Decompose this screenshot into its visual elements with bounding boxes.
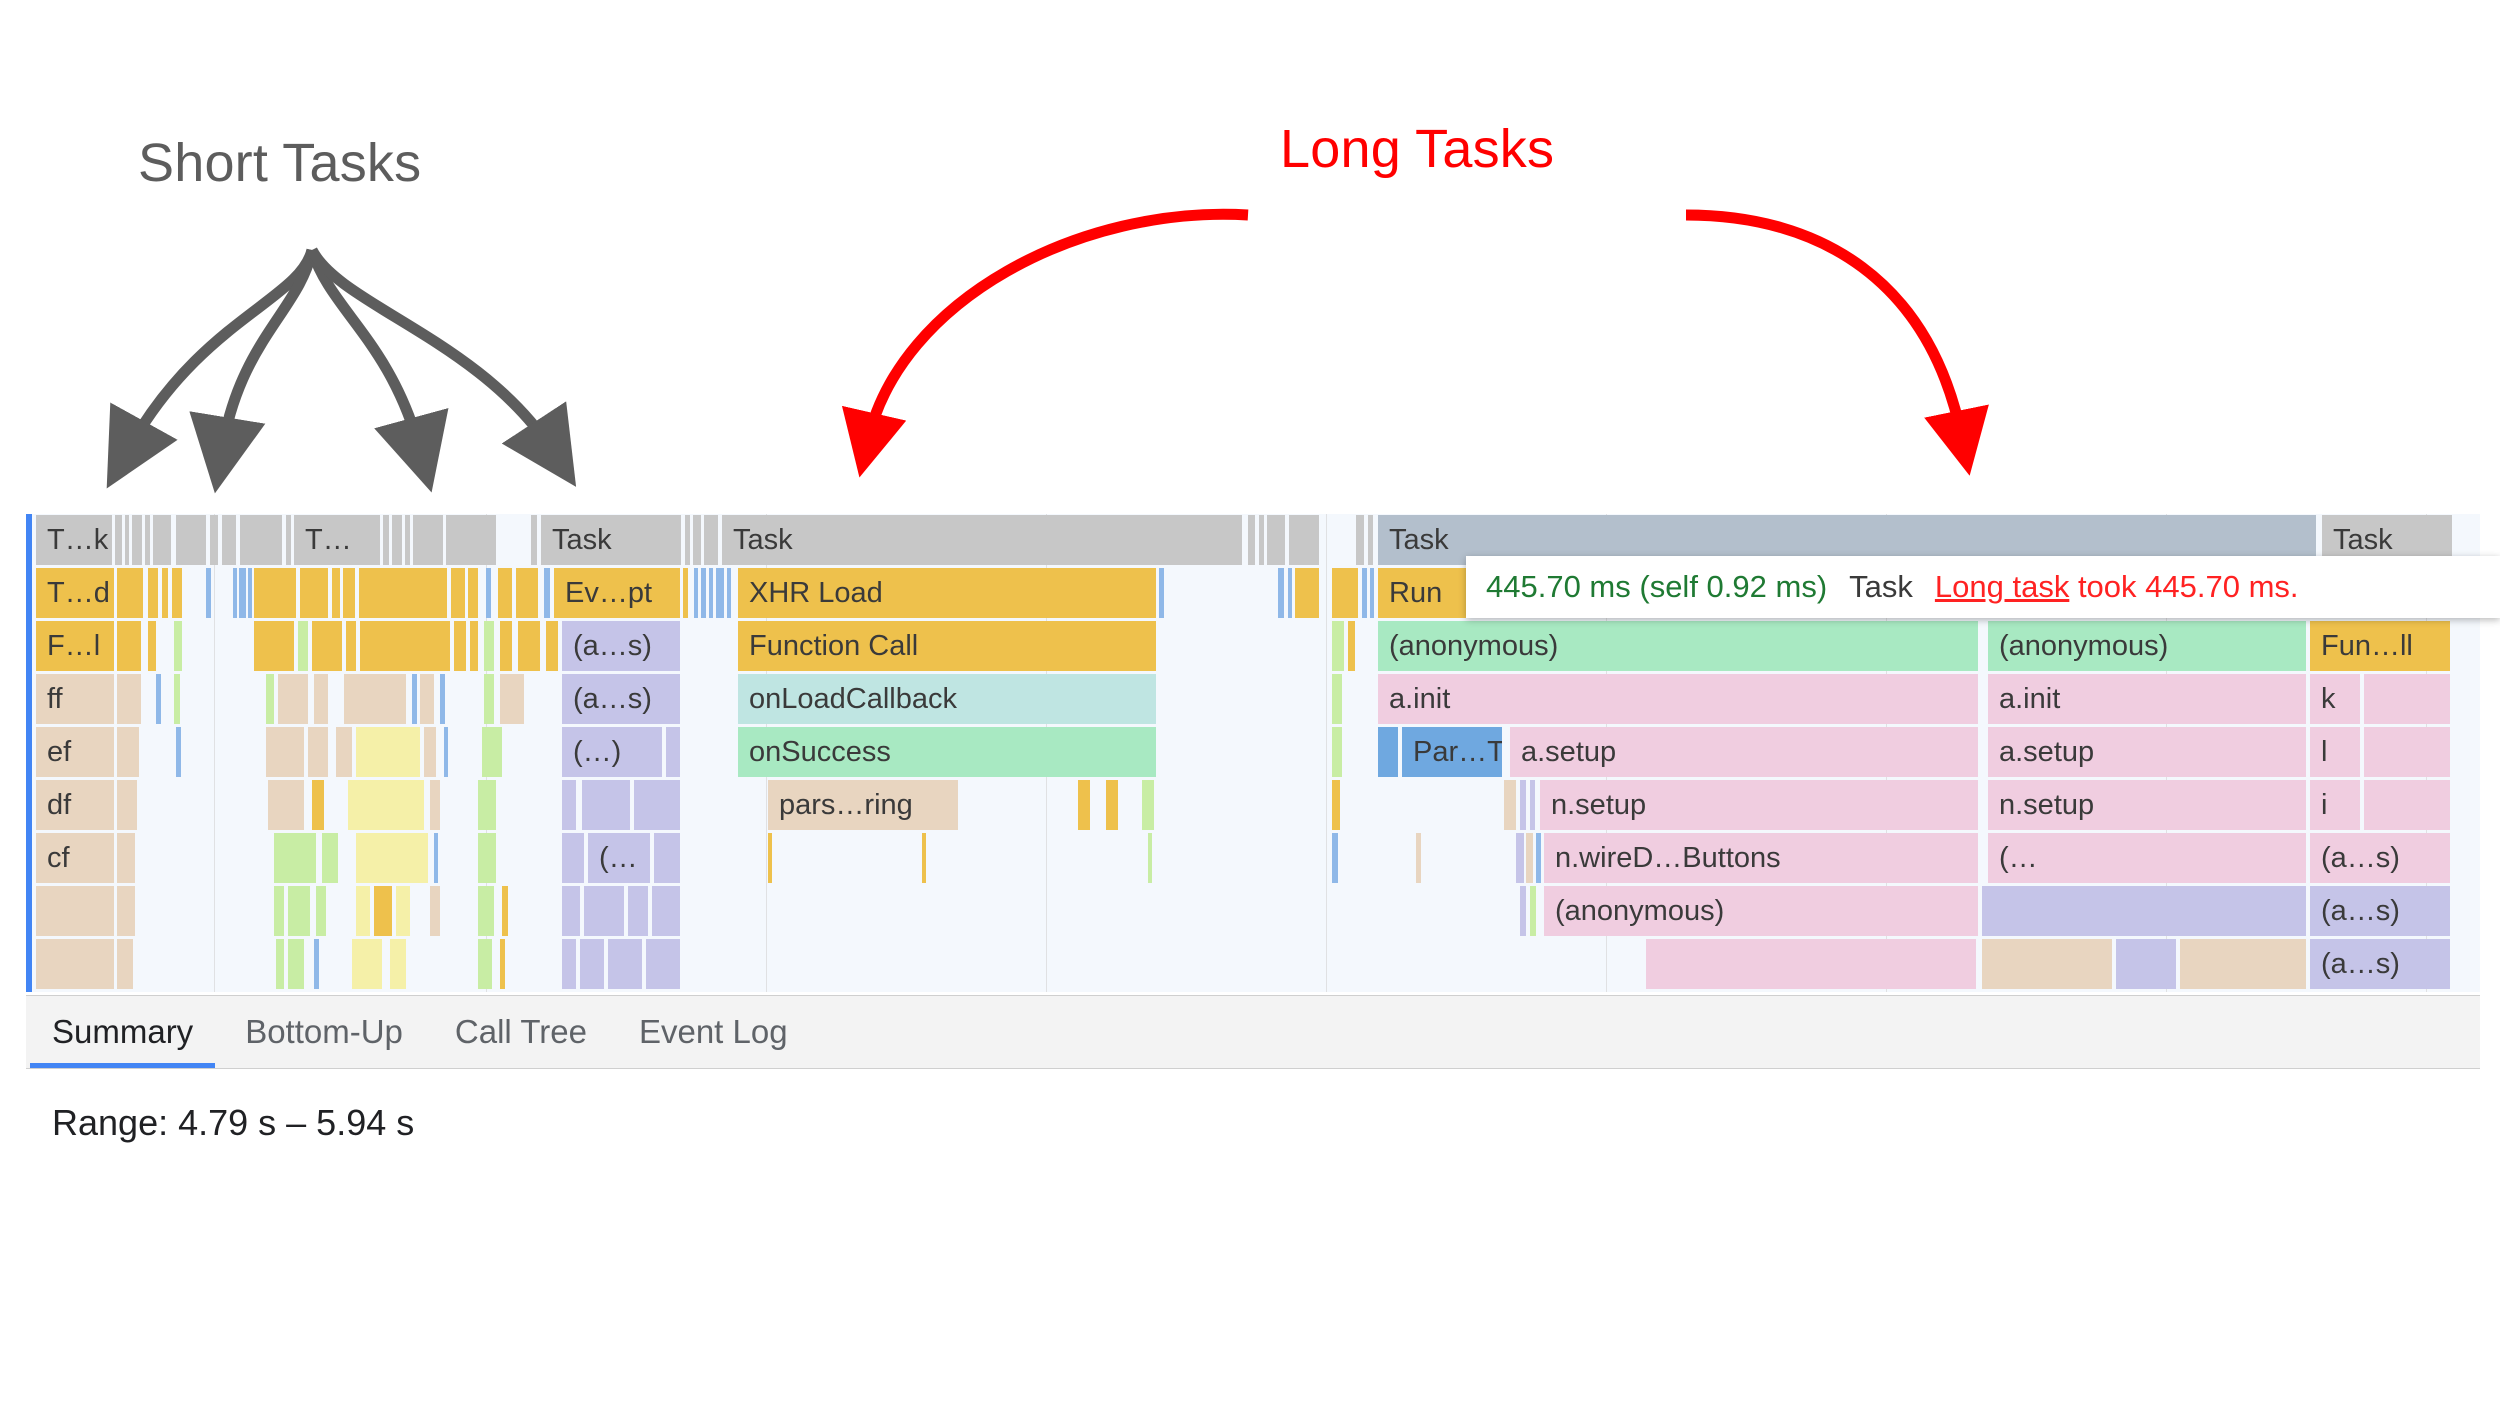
task-block[interactable] xyxy=(132,515,142,565)
flame-block[interactable] xyxy=(470,621,478,671)
flame-block[interactable] xyxy=(666,727,680,777)
flame-block[interactable] xyxy=(278,674,308,724)
flame-block[interactable]: (anonymous) xyxy=(1544,886,1978,936)
tooltip-duration: 445.70 ms (self 0.92 ms) xyxy=(1486,569,1827,605)
short-tasks-annotation-label: Short Tasks xyxy=(138,132,421,194)
task-block[interactable] xyxy=(222,515,236,565)
flame-block[interactable] xyxy=(322,833,338,883)
flame-block[interactable] xyxy=(694,568,698,618)
flame-block[interactable] xyxy=(156,674,161,724)
flame-block[interactable] xyxy=(1332,674,1342,724)
flame-block[interactable] xyxy=(162,568,168,618)
flame-row-6: cf (… n.wireD…Buttons (… (a…s) xyxy=(26,832,2480,884)
flame-block[interactable]: (… xyxy=(588,833,650,883)
flame-block[interactable]: (a…s) xyxy=(2310,833,2450,883)
flame-block[interactable] xyxy=(478,780,496,830)
flame-block[interactable] xyxy=(312,621,342,671)
flame-row-7: (anonymous) (a…s) xyxy=(26,885,2480,937)
tab-summary[interactable]: Summary xyxy=(26,996,219,1068)
flame-block[interactable] xyxy=(117,727,139,777)
flame-block[interactable] xyxy=(1332,568,1358,618)
flame-block[interactable] xyxy=(117,939,133,989)
flame-block[interactable] xyxy=(1416,833,1421,883)
task-block[interactable] xyxy=(531,515,537,565)
flame-block[interactable]: (a…s) xyxy=(2310,939,2450,989)
flame-block[interactable]: (anonymous) xyxy=(1378,621,1978,671)
flame-block[interactable] xyxy=(356,727,420,777)
flame-block[interactable]: (a…s) xyxy=(2310,886,2450,936)
flame-block[interactable] xyxy=(1332,780,1340,830)
flame-block[interactable] xyxy=(148,568,158,618)
flame-block[interactable] xyxy=(478,886,494,936)
flame-block[interactable] xyxy=(727,568,731,618)
flame-block[interactable] xyxy=(117,780,137,830)
flame-block[interactable] xyxy=(360,621,450,671)
flame-block[interactable] xyxy=(498,568,512,618)
flame-block[interactable] xyxy=(2364,674,2450,724)
flame-block[interactable] xyxy=(562,780,576,830)
tooltip-warning: Long task took 445.70 ms. xyxy=(1935,569,2299,605)
task-block[interactable] xyxy=(240,515,282,565)
flame-block[interactable] xyxy=(239,568,246,618)
flame-block[interactable] xyxy=(1348,621,1355,671)
tab-event-log[interactable]: Event Log xyxy=(613,996,814,1068)
flame-block[interactable] xyxy=(444,727,448,777)
flame-block[interactable] xyxy=(274,833,316,883)
tab-call-tree[interactable]: Call Tree xyxy=(429,996,613,1068)
task-block[interactable] xyxy=(210,515,218,565)
task-block[interactable] xyxy=(115,515,122,565)
flame-block[interactable] xyxy=(922,833,926,883)
flame-block[interactable] xyxy=(298,621,308,671)
flame-block[interactable]: F…l xyxy=(36,621,114,671)
task-block[interactable] xyxy=(405,515,410,565)
flame-block[interactable]: a.init xyxy=(1378,674,1978,724)
flame-block[interactable] xyxy=(172,568,182,618)
flame-block[interactable] xyxy=(652,886,680,936)
task-block[interactable] xyxy=(286,515,291,565)
flame-block[interactable] xyxy=(683,568,688,618)
flame-block[interactable] xyxy=(206,568,211,618)
task-block[interactable]: Task xyxy=(541,515,681,565)
flame-block[interactable] xyxy=(562,886,580,936)
flame-block[interactable] xyxy=(1520,886,1526,936)
flame-block[interactable] xyxy=(484,621,494,671)
task-block[interactable] xyxy=(383,515,389,565)
flame-block[interactable]: onSuccess xyxy=(738,727,1156,777)
flame-block[interactable] xyxy=(1520,780,1526,830)
flame-block[interactable] xyxy=(646,939,680,989)
flame-block[interactable] xyxy=(634,780,680,830)
task-block[interactable] xyxy=(413,515,443,565)
flame-block[interactable] xyxy=(518,621,540,671)
details-tab-bar[interactable]: Summary Bottom-Up Call Tree Event Log xyxy=(26,995,2480,1069)
annotation-arrows xyxy=(0,0,2500,520)
flame-block[interactable] xyxy=(608,939,642,989)
flame-block[interactable] xyxy=(1332,833,1338,883)
task-block[interactable] xyxy=(1259,515,1264,565)
flame-block[interactable]: k xyxy=(2310,674,2360,724)
long-task-tooltip: 445.70 ms (self 0.92 ms) Task Long task … xyxy=(1466,556,2500,618)
flame-block[interactable]: (… xyxy=(1988,833,2306,883)
flame-block[interactable] xyxy=(288,939,304,989)
flame-block[interactable] xyxy=(1530,886,1536,936)
task-block[interactable] xyxy=(1289,515,1319,565)
flame-block[interactable]: ef xyxy=(36,727,114,777)
flame-block[interactable] xyxy=(500,939,505,989)
flame-block[interactable] xyxy=(396,886,410,936)
task-block[interactable] xyxy=(685,515,690,565)
flame-block[interactable] xyxy=(500,674,524,724)
flame-block[interactable] xyxy=(1526,833,1533,883)
flame-block[interactable]: n.wireD…Buttons xyxy=(1544,833,1978,883)
flame-block[interactable] xyxy=(344,674,406,724)
range-summary-text: Range: 4.79 s – 5.94 s xyxy=(52,1102,414,1144)
flame-block[interactable] xyxy=(484,674,494,724)
flame-row-3: ff (a…s) onLoadCallback a.init a.init k xyxy=(26,673,2480,725)
flame-block[interactable] xyxy=(420,674,434,724)
flame-block[interactable] xyxy=(478,939,492,989)
timeline-left-rail xyxy=(26,514,32,992)
flame-block[interactable] xyxy=(314,939,319,989)
flame-block[interactable] xyxy=(544,568,550,618)
flame-block[interactable] xyxy=(716,568,724,618)
flame-block[interactable]: Ev…pt xyxy=(554,568,680,618)
flame-block[interactable]: Function Call xyxy=(738,621,1156,671)
flame-block[interactable] xyxy=(502,886,508,936)
flame-block[interactable] xyxy=(412,674,417,724)
flame-block[interactable]: Par…TML xyxy=(1402,727,1502,777)
flame-block[interactable] xyxy=(1332,621,1344,671)
task-block[interactable] xyxy=(125,515,129,565)
flame-block[interactable] xyxy=(562,833,584,883)
task-block[interactable] xyxy=(1248,515,1255,565)
flame-block[interactable] xyxy=(117,886,135,936)
flame-block[interactable] xyxy=(628,886,648,936)
flame-block[interactable] xyxy=(374,886,392,936)
flame-block[interactable]: cf xyxy=(36,833,114,883)
flame-block[interactable] xyxy=(584,886,624,936)
flame-block[interactable] xyxy=(316,886,326,936)
flame-block[interactable] xyxy=(582,780,630,830)
flame-block[interactable] xyxy=(430,780,440,830)
flame-row-2: F…l (a…s) Function Call (anonymous) (ano… xyxy=(26,620,2480,672)
flame-block[interactable] xyxy=(1142,780,1154,830)
long-tasks-annotation-label: Long Tasks xyxy=(1280,118,1554,180)
flame-block[interactable] xyxy=(390,939,406,989)
flame-block[interactable]: n.setup xyxy=(1540,780,1978,830)
flame-block[interactable] xyxy=(482,727,502,777)
flame-block[interactable] xyxy=(1370,568,1374,618)
flame-block[interactable]: ff xyxy=(36,674,114,724)
flame-block[interactable] xyxy=(248,568,252,618)
flame-block[interactable]: (a…s) xyxy=(562,674,680,724)
flame-row-5: df pars…ring n.setup n.setup i xyxy=(26,779,2480,831)
task-block[interactable] xyxy=(446,515,496,565)
flame-block[interactable] xyxy=(359,568,447,618)
flame-block[interactable]: a.init xyxy=(1988,674,2306,724)
task-block[interactable] xyxy=(693,515,701,565)
flame-block[interactable] xyxy=(454,621,466,671)
flame-block[interactable] xyxy=(36,939,114,989)
flame-block[interactable]: pars…ring xyxy=(768,780,958,830)
flame-block[interactable] xyxy=(268,780,304,830)
flame-block[interactable]: onLoadCallback xyxy=(738,674,1156,724)
flame-block[interactable] xyxy=(1288,568,1292,618)
task-block[interactable] xyxy=(153,515,171,565)
flame-block[interactable] xyxy=(654,833,680,883)
flame-block[interactable] xyxy=(336,727,352,777)
flame-block[interactable] xyxy=(36,886,114,936)
flame-block[interactable] xyxy=(1362,568,1367,618)
flame-block[interactable] xyxy=(500,621,512,671)
flame-block[interactable] xyxy=(2180,939,2306,989)
flame-block[interactable] xyxy=(516,568,538,618)
flame-block[interactable]: T…d xyxy=(36,568,114,618)
flame-block[interactable] xyxy=(1078,780,1090,830)
flame-block[interactable] xyxy=(308,727,328,777)
flame-block[interactable] xyxy=(1378,727,1398,777)
flame-block[interactable] xyxy=(1332,727,1342,777)
flame-block[interactable] xyxy=(2116,939,2176,989)
flame-block[interactable] xyxy=(356,833,428,883)
flame-block[interactable] xyxy=(2364,780,2450,830)
flame-block[interactable] xyxy=(348,780,424,830)
flame-block[interactable] xyxy=(266,727,304,777)
flame-block[interactable] xyxy=(288,886,310,936)
flame-block[interactable] xyxy=(312,780,324,830)
flame-block[interactable] xyxy=(1148,833,1152,883)
flame-block[interactable] xyxy=(440,674,445,724)
flame-block[interactable] xyxy=(276,939,284,989)
flame-row-4: ef (…) onSuccess Par…TML a.setup a.setup… xyxy=(26,726,2480,778)
flame-block[interactable] xyxy=(1530,780,1535,830)
flame-block[interactable] xyxy=(117,833,135,883)
flame-block[interactable] xyxy=(562,939,576,989)
flame-block[interactable] xyxy=(352,939,382,989)
flame-block[interactable]: i xyxy=(2310,780,2360,830)
flame-block[interactable] xyxy=(346,621,356,671)
task-block[interactable] xyxy=(145,515,150,565)
flame-block[interactable] xyxy=(434,833,438,883)
flame-block[interactable] xyxy=(300,568,328,618)
flame-block[interactable] xyxy=(424,727,436,777)
flame-block[interactable] xyxy=(117,568,143,618)
tooltip-event-name: Task xyxy=(1849,569,1913,605)
flame-block[interactable] xyxy=(468,568,478,618)
flame-row-8: (a…s) xyxy=(26,938,2480,990)
task-block[interactable] xyxy=(1356,515,1364,565)
flame-block[interactable] xyxy=(1536,833,1541,883)
task-block[interactable] xyxy=(176,515,206,565)
flame-block[interactable] xyxy=(233,568,237,618)
task-block-long[interactable]: Task xyxy=(722,515,1242,565)
flame-block[interactable] xyxy=(580,939,604,989)
flame-block[interactable] xyxy=(117,674,141,724)
flame-block[interactable] xyxy=(266,674,274,724)
flame-block[interactable] xyxy=(274,886,284,936)
flame-block[interactable]: n.setup xyxy=(1988,780,2306,830)
flame-block[interactable] xyxy=(430,886,440,936)
task-block[interactable] xyxy=(392,515,402,565)
flame-block[interactable] xyxy=(1982,886,2306,936)
tab-bottom-up[interactable]: Bottom-Up xyxy=(219,996,429,1068)
task-block[interactable] xyxy=(1267,515,1285,565)
flame-block[interactable] xyxy=(1982,939,2112,989)
flame-block[interactable] xyxy=(709,568,713,618)
flame-block[interactable] xyxy=(174,621,182,671)
flame-block[interactable] xyxy=(1278,568,1284,618)
flame-block[interactable] xyxy=(478,833,496,883)
flame-block[interactable] xyxy=(343,568,355,618)
tooltip-warning-link[interactable]: Long task xyxy=(1935,569,2069,604)
flame-block[interactable] xyxy=(254,568,296,618)
flame-block[interactable] xyxy=(2364,727,2450,777)
flame-block[interactable] xyxy=(768,833,772,883)
task-block[interactable] xyxy=(704,515,718,565)
flame-block[interactable]: l xyxy=(2310,727,2360,777)
flame-block[interactable] xyxy=(1646,939,1976,989)
flame-block[interactable] xyxy=(546,621,558,671)
flame-block[interactable] xyxy=(176,727,181,777)
flame-block[interactable] xyxy=(701,568,706,618)
flame-block[interactable] xyxy=(1295,568,1319,618)
task-block[interactable] xyxy=(1368,515,1373,565)
flame-block[interactable]: df xyxy=(36,780,114,830)
task-block[interactable]: T…k xyxy=(36,515,112,565)
task-block[interactable]: T… xyxy=(294,515,380,565)
flame-block[interactable] xyxy=(254,621,294,671)
flame-block[interactable] xyxy=(174,674,180,724)
flame-block[interactable] xyxy=(314,674,328,724)
flame-block[interactable] xyxy=(356,886,370,936)
flame-block[interactable]: XHR Load xyxy=(738,568,1156,618)
flame-block[interactable]: (a…s) xyxy=(562,621,680,671)
flame-block[interactable] xyxy=(1504,780,1516,830)
flame-block[interactable]: (anonymous) xyxy=(1988,621,2306,671)
flame-block[interactable]: Fun…ll xyxy=(2310,621,2450,671)
flame-block[interactable]: a.setup xyxy=(1510,727,1978,777)
flame-block[interactable]: (…) xyxy=(562,727,662,777)
flame-block[interactable] xyxy=(451,568,465,618)
flame-block[interactable]: a.setup xyxy=(1988,727,2306,777)
flame-block[interactable] xyxy=(332,568,340,618)
flame-block[interactable] xyxy=(148,621,156,671)
flame-block[interactable] xyxy=(117,621,141,671)
flame-block[interactable] xyxy=(1106,780,1118,830)
flame-block[interactable] xyxy=(1159,568,1164,618)
flame-block[interactable] xyxy=(1516,833,1524,883)
tooltip-warning-suffix: took 445.70 ms. xyxy=(2069,569,2298,604)
flame-block[interactable] xyxy=(486,568,491,618)
